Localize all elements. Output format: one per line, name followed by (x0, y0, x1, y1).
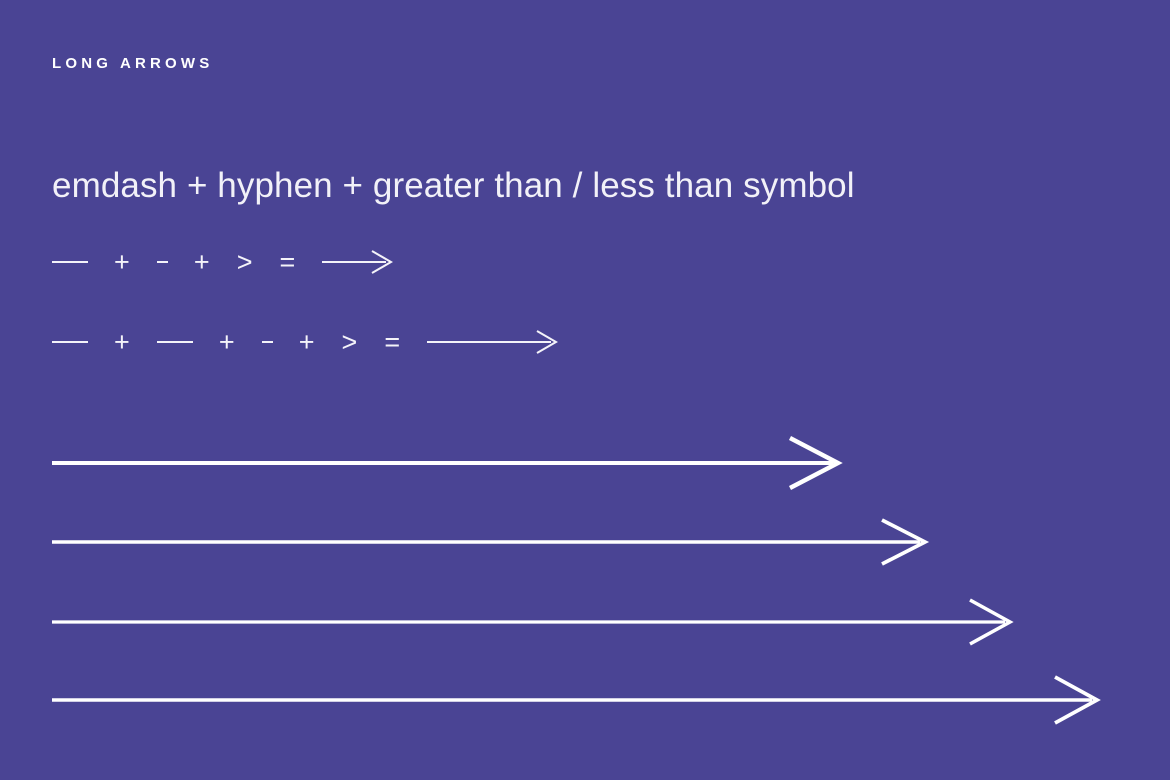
equals-glyph: = (384, 329, 401, 356)
emdash-glyph (52, 261, 88, 263)
hyphen-glyph (262, 341, 273, 343)
plus-glyph: + (219, 329, 236, 356)
arrow-specimen-2 (52, 520, 925, 564)
hyphen-glyph (157, 261, 168, 263)
inline-arrow-result-long (427, 329, 559, 355)
arrow-specimen-4 (52, 677, 1097, 723)
plus-glyph: + (194, 249, 211, 276)
inline-arrow-result-short (322, 249, 394, 275)
emdash-glyph (157, 341, 193, 343)
arrow-specimen-1 (52, 438, 838, 488)
specimen-page: LONG ARROWS emdash + hyphen + greater th… (0, 0, 1170, 780)
emdash-glyph (52, 341, 88, 343)
plus-glyph: + (299, 329, 316, 356)
equals-glyph: = (280, 249, 297, 276)
formula-line-1: + + > = (52, 248, 394, 276)
formula-line-2: + + + > = (52, 328, 559, 356)
greater-than-glyph: > (342, 329, 359, 356)
greater-than-glyph: > (237, 249, 254, 276)
page-title: emdash + hyphen + greater than / less th… (52, 166, 855, 206)
arrow-specimen-group (0, 0, 1170, 780)
arrow-specimen-3 (52, 600, 1010, 644)
plus-glyph: + (114, 249, 131, 276)
plus-glyph: + (114, 329, 131, 356)
section-label: LONG ARROWS (52, 56, 213, 71)
